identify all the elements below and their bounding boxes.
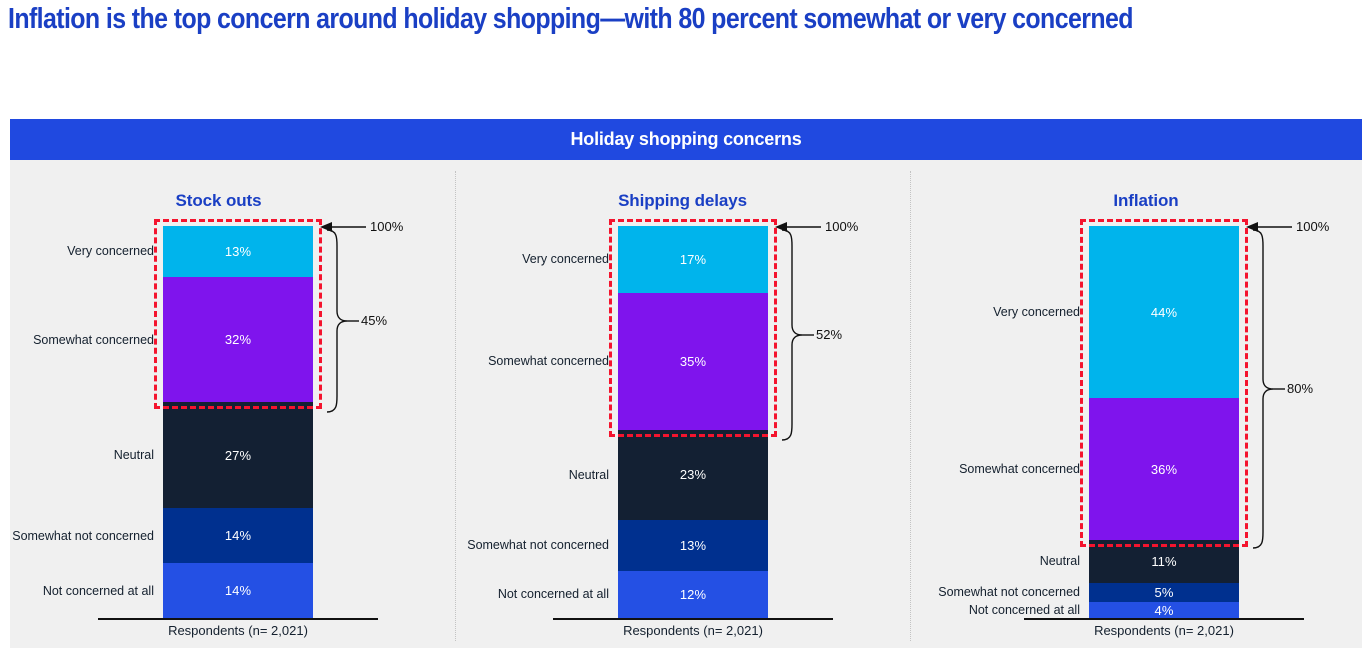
segment-value-somewhat-not-concerned: 5% (1155, 586, 1174, 599)
segment-not-concerned-at-all[interactable]: Not concerned at all 14% (163, 563, 313, 618)
bar-chart-stock-outs: Very concerned 13% Somewhat concerned 32… (163, 226, 313, 618)
exhibit-header-title: Holiday shopping concerns (570, 129, 801, 150)
segment-label-not-concerned-at-all: Not concerned at all (498, 588, 609, 601)
segment-label-not-concerned-at-all: Not concerned at all (969, 604, 1080, 617)
segment-value-very-concerned: 17% (680, 253, 706, 266)
panel-inflation: Inflation Very concerned 44% Somewhat co… (910, 160, 1362, 648)
segment-somewhat-concerned[interactable]: Somewhat concerned 35% (618, 293, 768, 430)
segment-somewhat-not-concerned[interactable]: Somewhat not concerned 5% (1089, 583, 1239, 603)
segment-not-concerned-at-all[interactable]: Not concerned at all 12% (618, 571, 768, 618)
segment-label-neutral: Neutral (569, 469, 609, 482)
segment-value-not-concerned-at-all: 4% (1155, 604, 1174, 617)
exhibit-panel: Holiday shopping concerns Stock outs Ver… (10, 119, 1362, 648)
stacked-bar: Very concerned 17% Somewhat concerned 35… (618, 226, 768, 618)
segment-somewhat-not-concerned[interactable]: Somewhat not concerned 13% (618, 520, 768, 571)
brace-80-percent (1251, 228, 1283, 550)
exhibit-header-bar: Holiday shopping concerns (10, 119, 1362, 160)
segment-not-concerned-at-all[interactable]: Not concerned at all 4% (1089, 602, 1239, 618)
segment-value-very-concerned: 13% (225, 245, 251, 258)
bar-chart-inflation: Very concerned 44% Somewhat concerned 36… (1089, 226, 1239, 618)
segment-value-not-concerned-at-all: 14% (225, 584, 251, 597)
annotation-bracket-sum: 80% (1287, 381, 1313, 396)
segment-label-somewhat-not-concerned: Somewhat not concerned (467, 539, 609, 552)
segment-neutral[interactable]: Neutral 23% (618, 430, 768, 520)
annotation-100-percent: 100% (370, 219, 403, 234)
segment-label-very-concerned: Very concerned (67, 245, 154, 258)
segment-very-concerned[interactable]: Very concerned 44% (1089, 226, 1239, 398)
segment-value-neutral: 11% (1151, 555, 1176, 568)
bar-chart-shipping-delays: Very concerned 17% Somewhat concerned 35… (618, 226, 768, 618)
segment-label-not-concerned-at-all: Not concerned at all (43, 584, 154, 597)
segment-label-somewhat-concerned: Somewhat concerned (488, 355, 609, 368)
segment-somewhat-not-concerned[interactable]: Somewhat not concerned 14% (163, 508, 313, 563)
axis-baseline (1024, 618, 1304, 620)
axis-baseline (553, 618, 833, 620)
segment-label-neutral: Neutral (1040, 555, 1080, 568)
axis-caption: Respondents (n= 2,021) (553, 623, 833, 638)
segment-value-somewhat-concerned: 35% (680, 355, 706, 368)
segment-value-very-concerned: 44% (1151, 306, 1177, 319)
axis-caption: Respondents (n= 2,021) (1024, 623, 1304, 638)
annotation-100-percent: 100% (1296, 219, 1329, 234)
stacked-bar: Very concerned 44% Somewhat concerned 36… (1089, 226, 1239, 618)
segment-label-somewhat-not-concerned: Somewhat not concerned (12, 529, 154, 542)
segment-somewhat-concerned[interactable]: Somewhat concerned 32% (163, 277, 313, 402)
axis-baseline (98, 618, 378, 620)
stacked-bar: Very concerned 13% Somewhat concerned 32… (163, 226, 313, 618)
segment-label-somewhat-concerned: Somewhat concerned (959, 463, 1080, 476)
segment-value-somewhat-concerned: 36% (1151, 463, 1177, 476)
segment-value-somewhat-not-concerned: 13% (680, 539, 706, 552)
segment-label-somewhat-concerned: Somewhat concerned (33, 333, 154, 346)
segment-neutral[interactable]: Neutral 27% (163, 402, 313, 508)
brace-45-percent (325, 228, 357, 414)
page-title: Inflation is the top concern around holi… (8, 2, 1143, 36)
panel-stock-outs: Stock outs Very concerned 13% Somewhat c… (10, 160, 455, 648)
segment-value-somewhat-not-concerned: 14% (225, 529, 251, 542)
segment-somewhat-concerned[interactable]: Somewhat concerned 36% (1089, 398, 1239, 539)
annotation-bracket-sum: 45% (361, 313, 387, 328)
panel-title-inflation: Inflation (920, 191, 1372, 211)
segment-label-somewhat-not-concerned: Somewhat not concerned (938, 586, 1080, 599)
panel-shipping-delays: Shipping delays Very concerned 17% Somew… (455, 160, 910, 648)
segment-label-very-concerned: Very concerned (522, 253, 609, 266)
annotation-bracket-sum: 52% (816, 327, 842, 342)
annotation-100-percent: 100% (825, 219, 858, 234)
segment-neutral[interactable]: Neutral 11% (1089, 540, 1239, 583)
brace-52-percent (780, 228, 812, 442)
segment-very-concerned[interactable]: Very concerned 17% (618, 226, 768, 293)
segment-very-concerned[interactable]: Very concerned 13% (163, 226, 313, 277)
segment-label-very-concerned: Very concerned (993, 306, 1080, 319)
panel-title-stock-outs: Stock outs (0, 191, 441, 211)
segment-value-neutral: 23% (680, 468, 706, 481)
panel-title-shipping-delays: Shipping delays (455, 191, 910, 211)
axis-caption: Respondents (n= 2,021) (98, 623, 378, 638)
segment-value-not-concerned-at-all: 12% (680, 588, 706, 601)
segment-label-neutral: Neutral (114, 449, 154, 462)
segment-value-neutral: 27% (225, 449, 251, 462)
segment-value-somewhat-concerned: 32% (225, 333, 251, 346)
